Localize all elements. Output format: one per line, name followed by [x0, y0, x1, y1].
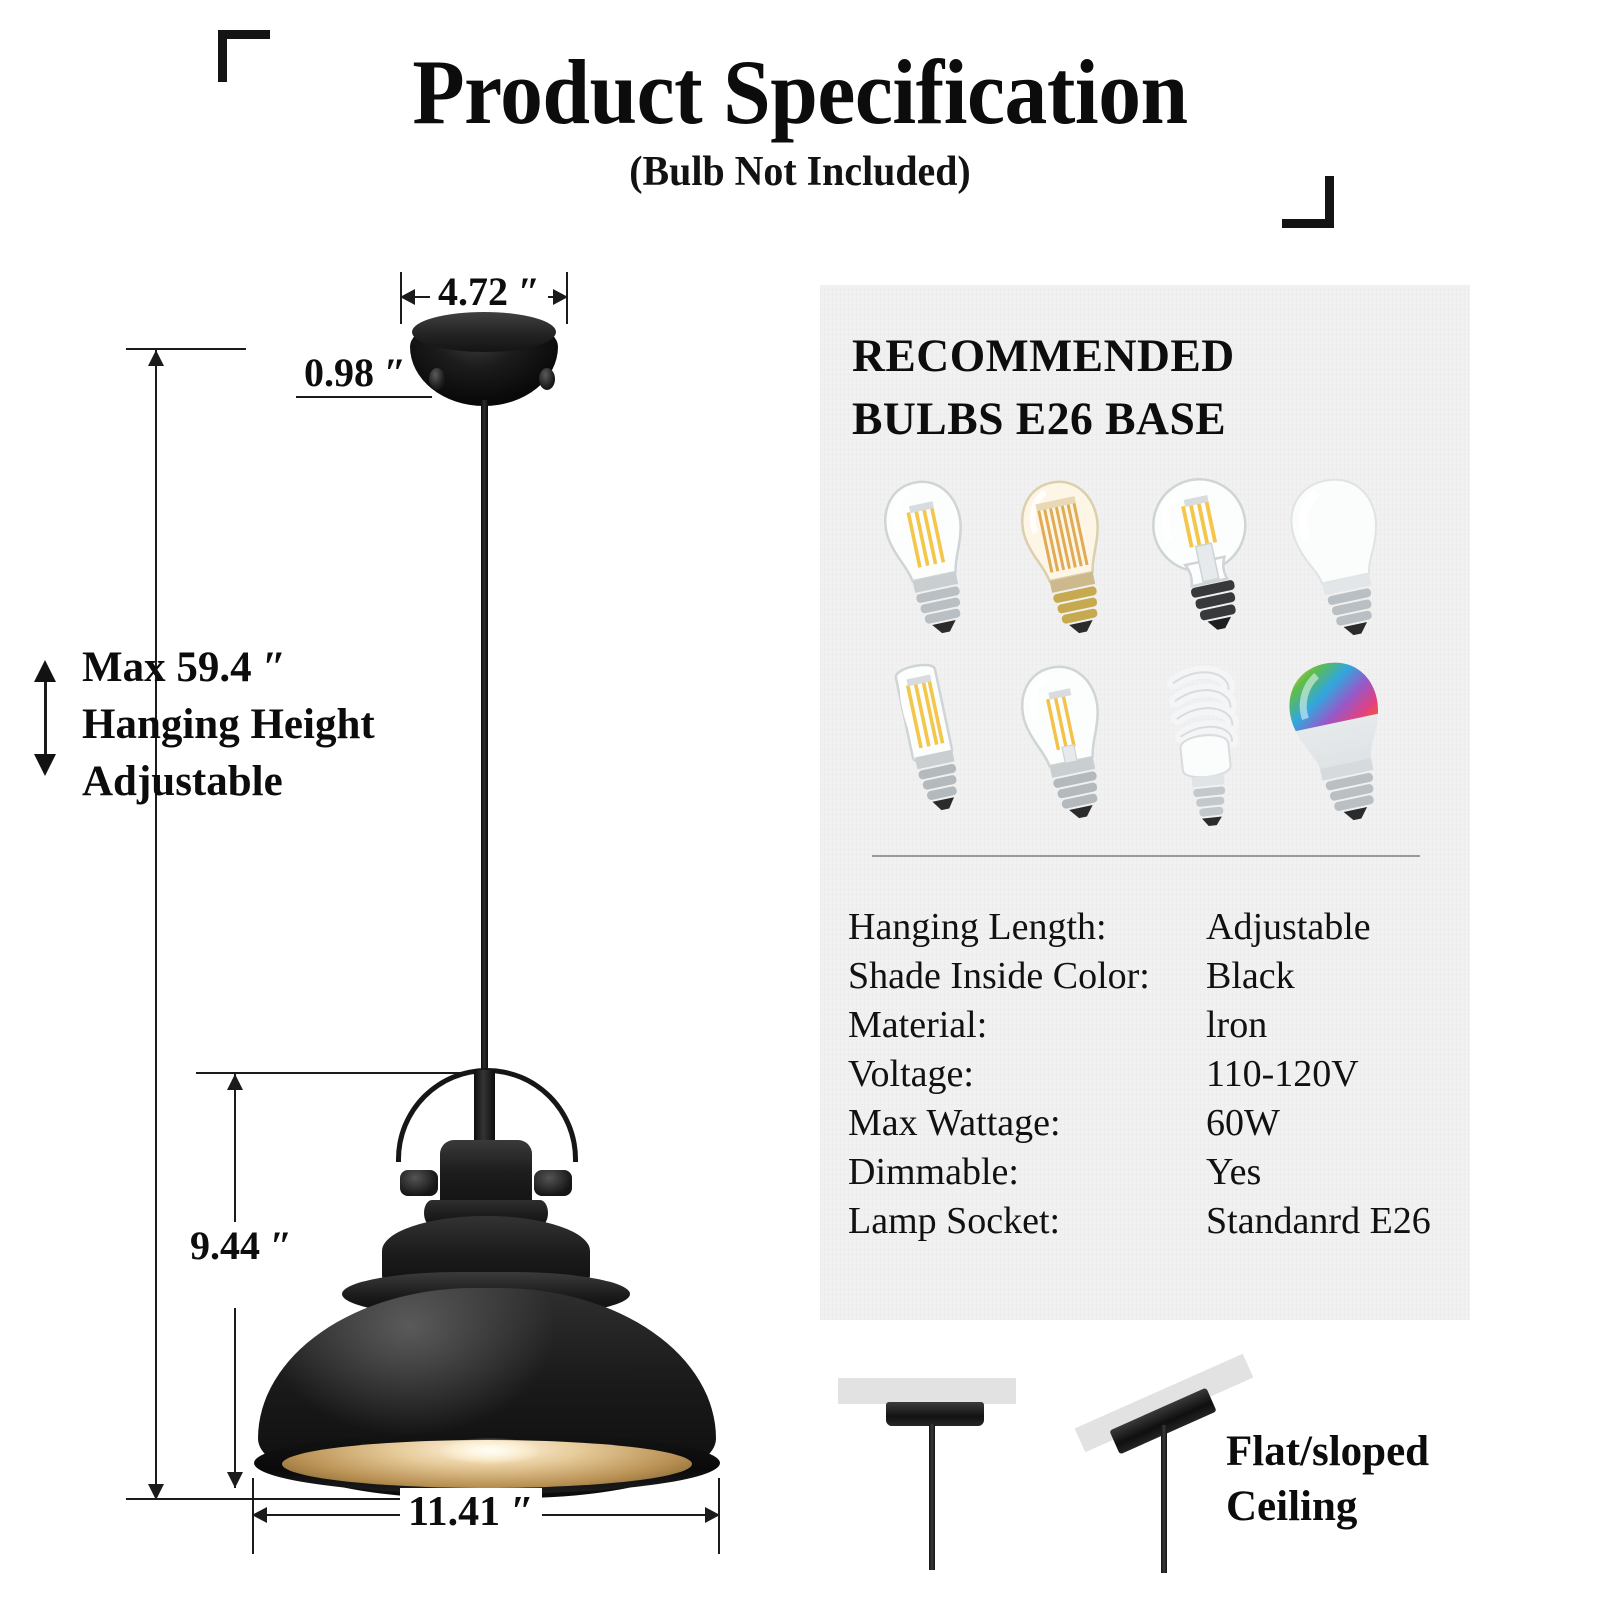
spec-key: Voltage:: [848, 1052, 974, 1096]
cfl-spiral-bulb-icon: [1136, 650, 1273, 835]
spec-value: Black: [1206, 954, 1295, 998]
page-title: Product Specification: [56, 44, 1544, 141]
flat-ceiling-rod: [929, 1424, 935, 1570]
dim-line-canopy-height-bottom: [296, 396, 432, 398]
product-specification-page: Product Specification (Bulb Not Included…: [0, 0, 1600, 1600]
st64-amber-vintage-bulb-icon: [999, 465, 1136, 650]
spec-key: Shade Inside Color:: [848, 954, 1150, 998]
ceiling-caption-line-1: Flat/sloped: [1226, 1424, 1556, 1479]
ceiling-caption-line-2: Ceiling: [1226, 1479, 1556, 1534]
flat-ceiling-canopy: [886, 1402, 984, 1426]
table-row: Material: lron: [848, 1003, 1448, 1052]
yoke-knob-left: [400, 1170, 438, 1196]
canopy-screw-hole-left: [429, 368, 445, 390]
table-row: Voltage: 110-120V: [848, 1052, 1448, 1101]
st64-led-filament-bulb-icon: [999, 650, 1136, 835]
st64-clear-filament-bulb-icon: [862, 465, 999, 650]
dim-arrow-canopy-right-icon: [553, 289, 568, 305]
spec-key: Dimmable:: [848, 1150, 1019, 1194]
dim-arrow-shade-top-icon: [227, 1074, 243, 1090]
ceiling-canopy-top-face: [412, 312, 556, 352]
sloped-ceiling-rod: [1161, 1425, 1167, 1573]
dim-line-hang-vertical: [155, 350, 157, 1500]
ceiling-mount-caption: Flat/sloped Ceiling: [1226, 1424, 1556, 1534]
dim-arrow-canopy-left-icon: [400, 289, 415, 305]
t30-tubular-filament-bulb-icon: [862, 650, 999, 835]
panel-heading-line-2: BULBS E26 BASE: [852, 388, 1434, 451]
dim-arrow-shade-bottom-icon: [227, 1472, 243, 1488]
spec-value: lron: [1206, 1003, 1267, 1047]
panel-heading-line-1: RECOMMENDED: [852, 325, 1434, 388]
dim-label-canopy-width: 4.72 ″: [430, 268, 548, 315]
spec-key: Max Wattage:: [848, 1101, 1061, 1145]
panel-heading: RECOMMENDED BULBS E26 BASE: [852, 325, 1434, 450]
rgb-smart-led-bulb-icon: [1273, 650, 1410, 835]
a19-frosted-led-bulb-icon: [1273, 465, 1410, 650]
hang-adjust-arrow-down-icon: [34, 754, 56, 776]
hang-adjust-arrow-up-icon: [34, 660, 56, 682]
recommended-bulbs-grid: [862, 465, 1410, 835]
table-row: Lamp Socket: Standanrd E26: [848, 1199, 1448, 1248]
hanging-cord: [481, 400, 488, 1084]
spec-value: Standanrd E26: [1206, 1199, 1431, 1243]
hanging-height-line-2: Hanging Height: [82, 697, 462, 754]
spec-key: Hanging Length:: [848, 905, 1107, 949]
dim-arrow-hang-top-icon: [148, 350, 164, 366]
hanging-height-line-1: Max 59.4 ″: [82, 640, 462, 697]
specification-table: Hanging Length: Adjustable Shade Inside …: [848, 905, 1448, 1248]
dim-line-shade-height-upper: [234, 1074, 236, 1222]
flat-ceiling-plate: [838, 1378, 1016, 1404]
dim-arrow-diam-right-icon: [705, 1507, 720, 1523]
dim-ext-line-hang-top: [126, 348, 246, 350]
g25-globe-filament-bulb-icon: [1136, 465, 1273, 650]
table-row: Hanging Length: Adjustable: [848, 905, 1448, 954]
table-row: Shade Inside Color: Black: [848, 954, 1448, 1003]
spec-value: Yes: [1206, 1150, 1261, 1194]
hanging-height-callout: Max 59.4 ″ Hanging Height Adjustable: [82, 640, 462, 810]
table-row: Dimmable: Yes: [848, 1150, 1448, 1199]
dim-label-shade-height: 9.44 ″: [182, 1222, 300, 1269]
spec-key: Material:: [848, 1003, 987, 1047]
dim-line-shade-height-lower: [234, 1308, 236, 1488]
spec-value: Adjustable: [1206, 905, 1371, 949]
spec-value: 60W: [1206, 1101, 1280, 1145]
canopy-screw-hole-right: [539, 368, 555, 390]
dim-ext-line-hang-bottom: [126, 1498, 426, 1500]
yoke-knob-right: [534, 1170, 572, 1196]
hanging-height-line-3: Adjustable: [82, 754, 462, 811]
dim-label-shade-diameter: 11.41 ″: [400, 1488, 542, 1536]
dim-label-canopy-height: 0.98 ″: [296, 349, 414, 396]
table-row: Max Wattage: 60W: [848, 1101, 1448, 1150]
page-subtitle: (Bulb Not Included): [40, 148, 1560, 196]
panel-divider: [872, 855, 1420, 857]
dim-arrow-diam-left-icon: [252, 1507, 267, 1523]
shade-light-glow: [440, 1438, 540, 1464]
spec-key: Lamp Socket:: [848, 1199, 1060, 1243]
spec-value: 110-120V: [1206, 1052, 1359, 1096]
